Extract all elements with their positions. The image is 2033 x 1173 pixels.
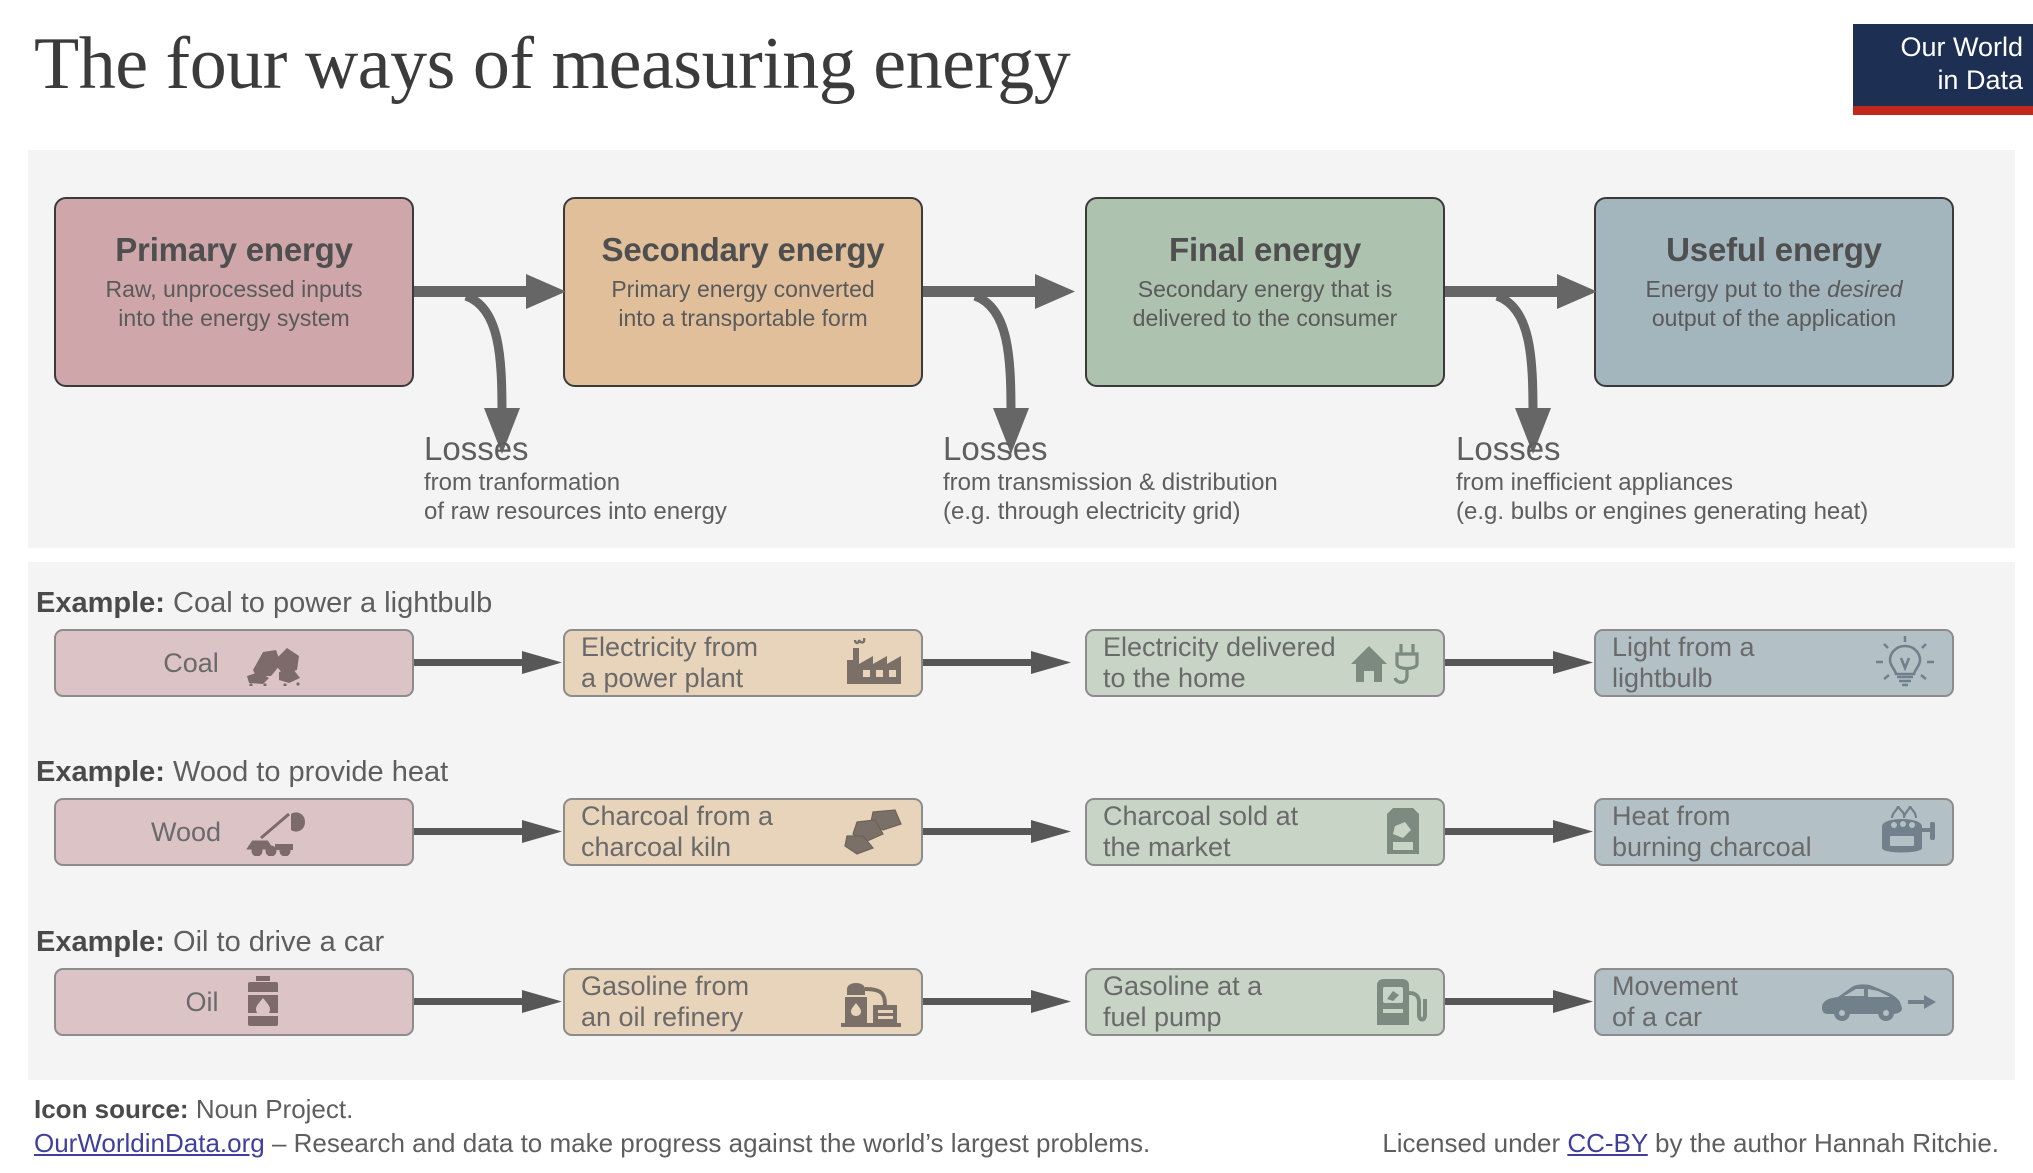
example-step-label: Heat from burning charcoal — [1612, 801, 1812, 863]
example-step-label-line1: Movement — [1612, 971, 1738, 1001]
flow-box-title: Final energy — [1087, 229, 1443, 271]
example-step-fuel-pump[interactable]: Gasoline at a fuel pump — [1085, 968, 1445, 1036]
example-step-label: Light from a lightbulb — [1612, 632, 1755, 694]
example-label-text: Coal to power a lightbulb — [165, 587, 492, 619]
flow-box-desc-line2: into a transportable form — [618, 305, 867, 331]
logo-line-1: Our World — [1863, 31, 2023, 64]
example-step-label: Gasoline from an oil refinery — [581, 971, 749, 1033]
example-step-label-line2: to the home — [1103, 663, 1246, 693]
flow-box-primary-energy[interactable]: Primary energy Raw, unprocessed inputs i… — [54, 197, 414, 387]
owid-tagline-text: – Research and data to make progress aga… — [265, 1128, 1150, 1158]
example-step-coal[interactable]: Coal — [54, 629, 414, 697]
example-step-label: Gasoline at a fuel pump — [1103, 971, 1262, 1033]
losses-block-transformation: Losses from tranformation of raw resourc… — [424, 430, 727, 526]
wood-log-icon — [245, 808, 317, 856]
example-arrow — [414, 817, 574, 847]
example-step-home-delivery[interactable]: Electricity delivered to the home — [1085, 629, 1445, 697]
losses-block-appliances: Losses from inefficient appliances (e.g.… — [1456, 430, 1868, 526]
example-step-label: Wood — [151, 817, 221, 848]
losses-block-transmission: Losses from transmission & distribution … — [943, 430, 1278, 526]
example-step-label-line1: Electricity delivered — [1103, 632, 1336, 662]
owid-website-link[interactable]: OurWorldinData.org — [34, 1128, 265, 1158]
footer: Icon source: Noun Project. OurWorldinDat… — [34, 1092, 1999, 1168]
flow-box-final-energy[interactable]: Final energy Secondary energy that is de… — [1085, 197, 1445, 387]
losses-title: Losses — [1456, 430, 1868, 468]
example-step-label-line2: of a car — [1612, 1002, 1702, 1032]
example-step-label-line2: the market — [1103, 832, 1231, 862]
power-plant-icon — [843, 638, 905, 688]
example-label-oil: Example: Oil to drive a car — [36, 925, 384, 959]
example-step-label: Charcoal from a charcoal kiln — [581, 801, 773, 863]
example-arrow — [1445, 817, 1605, 847]
flow-box-useful-energy[interactable]: Useful energy Energy put to the desired … — [1594, 197, 1954, 387]
example-step-label-line1: Gasoline at a — [1103, 971, 1262, 1001]
flow-box-desc-line2: delivered to the consumer — [1133, 305, 1398, 331]
owid-logo[interactable]: Our World in Data — [1853, 24, 2033, 106]
fuel-pump-icon — [1371, 975, 1427, 1029]
charcoal-icon — [843, 808, 905, 856]
example-label-text: Wood to provide heat — [165, 756, 448, 788]
losses-title: Losses — [943, 430, 1278, 468]
charcoal-bag-icon — [1379, 806, 1427, 858]
example-step-label-line2: charcoal kiln — [581, 832, 731, 862]
example-step-charcoal-kiln[interactable]: Charcoal from a charcoal kiln — [563, 798, 923, 866]
flow-box-desc-line1: Raw, unprocessed inputs — [106, 276, 363, 302]
losses-line-2: of raw resources into energy — [424, 497, 727, 526]
example-step-label: Oil — [186, 987, 219, 1018]
example-step-label-line1: Gasoline from — [581, 971, 749, 1001]
example-step-label-line1: Electricity from — [581, 632, 758, 662]
example-step-label: Electricity delivered to the home — [1103, 632, 1336, 694]
example-label-prefix: Example: — [36, 587, 165, 619]
footer-license: Licensed under CC-BY by the author Hanna… — [1382, 1126, 1999, 1160]
flow-box-title: Secondary energy — [565, 229, 921, 271]
losses-title: Losses — [424, 430, 727, 468]
example-step-power-plant[interactable]: Electricity from a power plant — [563, 629, 923, 697]
losses-line-1: from inefficient appliances — [1456, 468, 1868, 497]
losses-line-1: from tranformation — [424, 468, 727, 497]
page-title: The four ways of measuring energy — [34, 16, 1070, 112]
example-arrow — [923, 817, 1083, 847]
flow-box-desc: Raw, unprocessed inputs into the energy … — [56, 275, 412, 333]
example-step-label: Movement of a car — [1612, 971, 1738, 1033]
coal-icon — [243, 640, 305, 686]
flow-box-desc: Energy put to the desired output of the … — [1596, 275, 1952, 333]
example-step-burning-charcoal[interactable]: Heat from burning charcoal — [1594, 798, 1954, 866]
example-step-label-line1: Charcoal from a — [581, 801, 773, 831]
example-step-wood[interactable]: Wood — [54, 798, 414, 866]
license-suffix: by the author Hannah Ritchie. — [1648, 1128, 1999, 1158]
example-arrow — [414, 648, 574, 678]
example-step-label-line2: burning charcoal — [1612, 832, 1812, 862]
logo-line-2: in Data — [1863, 64, 2023, 97]
example-step-car-movement[interactable]: Movement of a car — [1594, 968, 1954, 1036]
flow-box-secondary-energy[interactable]: Secondary energy Primary energy converte… — [563, 197, 923, 387]
flow-box-title: Primary energy — [56, 229, 412, 271]
example-label-prefix: Example: — [36, 756, 165, 788]
example-arrow — [1445, 987, 1605, 1017]
footer-left: Icon source: Noun Project. OurWorldinDat… — [34, 1092, 1150, 1160]
example-step-label-line2: a power plant — [581, 663, 743, 693]
example-arrow — [923, 648, 1083, 678]
example-label-text: Oil to drive a car — [165, 926, 384, 958]
example-step-charcoal-market[interactable]: Charcoal sold at the market — [1085, 798, 1445, 866]
flow-box-desc-line1: Secondary energy that is — [1138, 276, 1392, 302]
losses-line-2: (e.g. bulbs or engines generating heat) — [1456, 497, 1868, 526]
example-step-label-line2: an oil refinery — [581, 1002, 743, 1032]
logo-red-rule — [1853, 106, 2033, 115]
example-step-label-line2: lightbulb — [1612, 663, 1713, 693]
icon-source-text: Noun Project. — [189, 1094, 354, 1124]
oil-refinery-icon — [835, 975, 905, 1029]
flow-box-desc: Secondary energy that is delivered to th… — [1087, 275, 1443, 333]
flow-box-title: Useful energy — [1596, 229, 1952, 271]
example-step-lightbulb[interactable]: Light from a lightbulb — [1594, 629, 1954, 697]
example-step-label-line2: fuel pump — [1103, 1002, 1222, 1032]
house-plug-icon — [1349, 638, 1427, 688]
car-icon — [1820, 982, 1936, 1022]
flow-box-desc-line2: output of the application — [1652, 305, 1896, 331]
example-step-label-line1: Charcoal sold at — [1103, 801, 1298, 831]
example-label-prefix: Example: — [36, 926, 165, 958]
example-arrow — [923, 987, 1083, 1017]
example-step-label-line1: Heat from — [1612, 801, 1731, 831]
flow-box-desc-line1-pre: Energy put to the — [1645, 276, 1827, 302]
example-step-label-line1: Light from a — [1612, 632, 1755, 662]
example-arrow — [1445, 648, 1605, 678]
example-step-oil-refinery[interactable]: Gasoline from an oil refinery — [563, 968, 923, 1036]
example-label-wood: Example: Wood to provide heat — [36, 755, 448, 789]
grill-icon — [1874, 806, 1936, 858]
license-prefix: Licensed under — [1382, 1128, 1567, 1158]
example-step-label: Electricity from a power plant — [581, 632, 758, 694]
losses-line-1: from transmission & distribution — [943, 468, 1278, 497]
flow-box-desc-line2: into the energy system — [118, 305, 349, 331]
oil-barrel-icon — [243, 976, 283, 1028]
example-step-oil[interactable]: Oil — [54, 968, 414, 1036]
flow-box-desc: Primary energy converted into a transpor… — [565, 275, 921, 333]
example-arrow — [414, 987, 574, 1017]
example-step-label: Charcoal sold at the market — [1103, 801, 1298, 863]
example-step-label: Coal — [163, 648, 219, 679]
icon-source-prefix: Icon source: — [34, 1094, 189, 1124]
flow-box-desc-emphasis: desired — [1827, 276, 1902, 302]
cc-by-link[interactable]: CC-BY — [1567, 1128, 1647, 1158]
flow-box-desc-line1: Primary energy converted — [611, 276, 874, 302]
example-label-coal: Example: Coal to power a lightbulb — [36, 586, 492, 620]
header: The four ways of measuring energy Our Wo… — [0, 0, 2033, 150]
owid-tagline-line: OurWorldinData.org – Research and data t… — [34, 1126, 1150, 1160]
losses-line-2: (e.g. through electricity grid) — [943, 497, 1278, 526]
lightbulb-icon — [1874, 636, 1936, 690]
icon-source-line: Icon source: Noun Project. — [34, 1092, 1150, 1126]
